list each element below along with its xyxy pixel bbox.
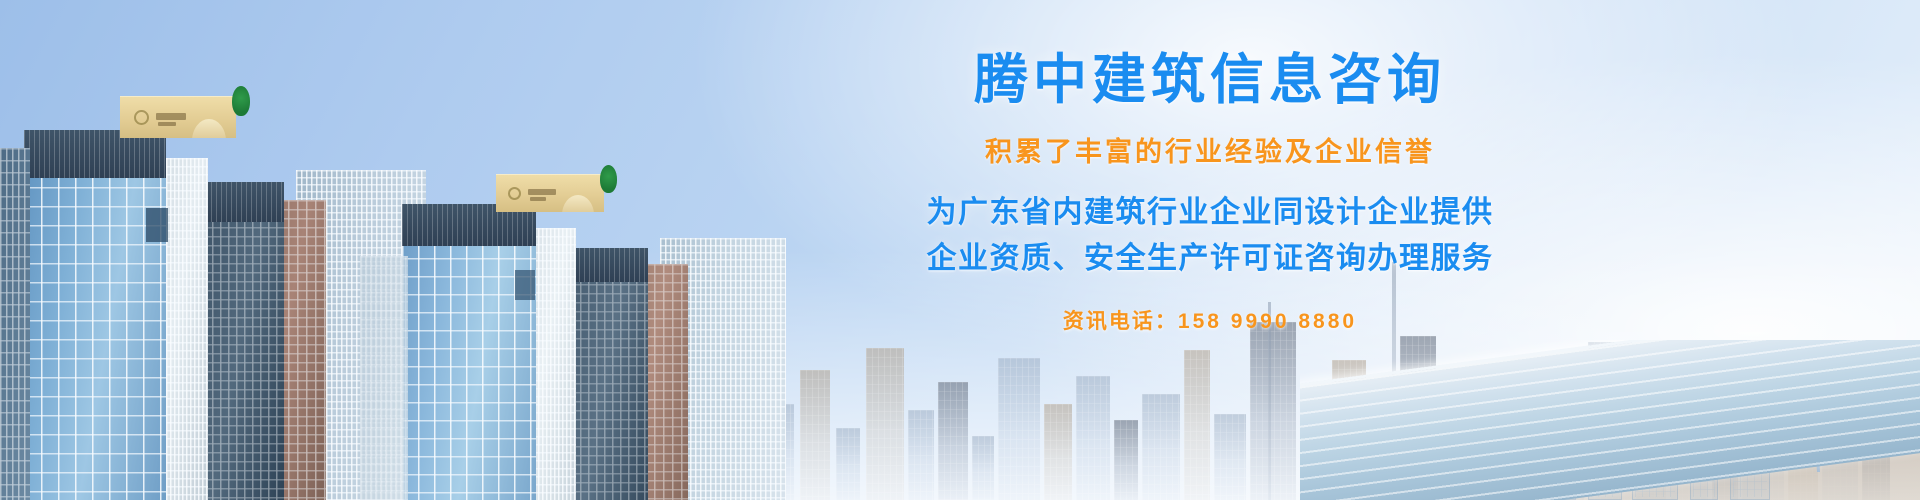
phone-label: 资讯电话： xyxy=(1063,310,1178,333)
rooftop-billboard-b xyxy=(496,174,604,212)
glass-office-towers-a xyxy=(0,80,400,500)
banner-subtitle: 积累了丰富的行业经验及企业信誉 xyxy=(860,136,1560,168)
glass-office-towers-b xyxy=(360,160,760,500)
rooftop-billboard xyxy=(120,96,236,138)
hero-banner: 腾中建筑信息咨询 积累了丰富的行业经验及企业信誉 为广东省内建筑行业企业同设计企… xyxy=(0,0,1920,500)
glass-roof-canopy xyxy=(1300,340,1920,500)
page-title: 腾中建筑信息咨询 xyxy=(860,52,1560,109)
tower-main-blue-glass xyxy=(24,130,166,500)
description-line-2: 企业资质、安全生产许可证咨询办理服务 xyxy=(860,236,1560,282)
tower-b-dark-mid xyxy=(564,248,648,500)
banner-description: 为广东省内建筑行业企业同设计企业提供 企业资质、安全生产许可证咨询办理服务 xyxy=(860,190,1560,281)
contact-phone[interactable]: 资讯电话：158 9990 8880 xyxy=(860,305,1560,335)
tower-b-main-blue-glass xyxy=(402,204,536,500)
description-line-1: 为广东省内建筑行业企业同设计企业提供 xyxy=(860,190,1560,236)
green-tree-icon xyxy=(232,86,250,116)
tower-dark-mid xyxy=(196,182,284,500)
banner-copy: 腾中建筑信息咨询 积累了丰富的行业经验及企业信誉 为广东省内建筑行业企业同设计企… xyxy=(860,52,1560,335)
phone-number: 158 9990 8880 xyxy=(1178,310,1357,333)
green-tree-icon-b xyxy=(600,165,617,193)
